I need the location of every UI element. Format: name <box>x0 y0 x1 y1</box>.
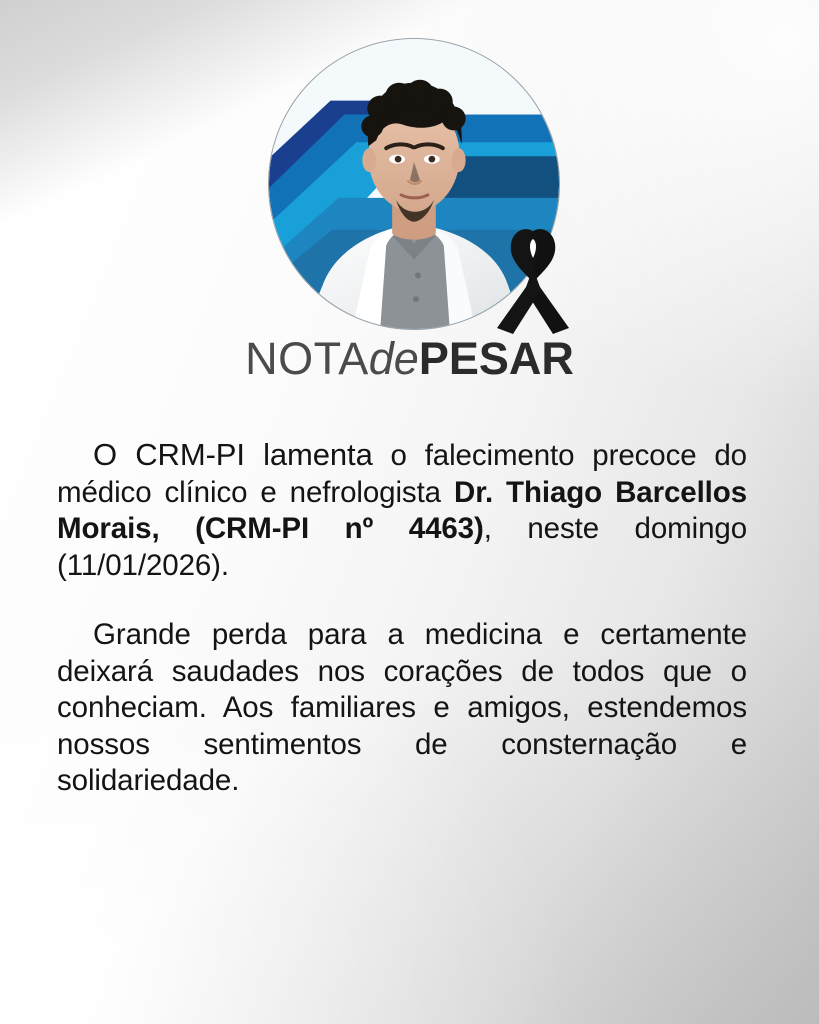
title-part-pesar: PESAR <box>419 333 574 384</box>
portrait-block <box>268 38 560 330</box>
paragraph-second: Grande perda para a medicina e certament… <box>57 617 747 800</box>
poster-canvas: NOTAdePESAR O CRM-PI lamenta o falecimen… <box>0 0 819 1024</box>
title-part-nota: NOTA <box>245 333 369 384</box>
lead-phrase: O CRM-PI lamenta <box>93 437 373 472</box>
page-title: NOTAdePESAR <box>0 336 819 381</box>
black-mourning-ribbon-icon <box>491 228 575 336</box>
footer: CRM-PI CONSELHO REGIONAL DE MEDICINA DO … <box>0 879 819 1024</box>
paragraph-first: O CRM-PI lamenta o falecimento precoce d… <box>57 437 747 584</box>
announcement-body: O CRM-PI lamenta o falecimento precoce d… <box>57 437 747 800</box>
title-part-de: de <box>369 333 419 384</box>
